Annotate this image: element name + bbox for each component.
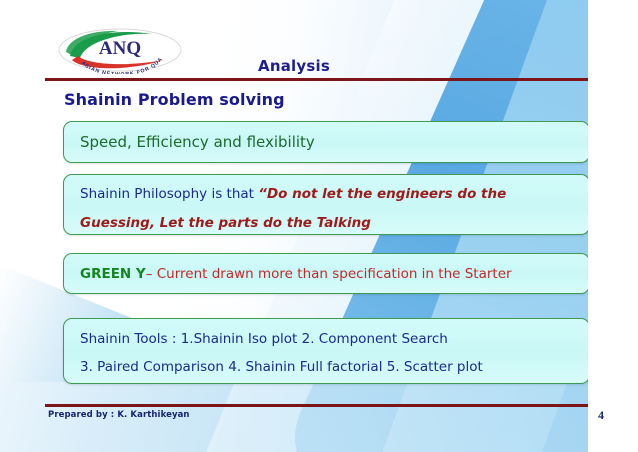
philosophy-line-2: Guessing, Let the parts do the Talking bbox=[80, 208, 575, 235]
philosophy-lead: Shainin Philosophy is that bbox=[80, 186, 258, 202]
content-box-tools: Shainin Tools : 1.Shainin Iso plot 2. Co… bbox=[63, 318, 588, 384]
green-y-description: – Current drawn more than specification … bbox=[146, 266, 512, 282]
page-number: 4 bbox=[598, 408, 604, 423]
philosophy-quote-open: “ bbox=[258, 186, 267, 202]
header-divider bbox=[45, 78, 588, 81]
section-heading: Shainin Problem solving bbox=[64, 90, 285, 109]
content-box-speed: Speed, Efficiency and flexibility bbox=[63, 121, 588, 163]
philosophy-quote-line-2: Guessing, Let the parts do the Talking bbox=[80, 215, 371, 231]
footer-author: Prepared by : K. Karthikeyan bbox=[48, 410, 190, 420]
philosophy-line-1: Shainin Philosophy is that “Do not let t… bbox=[80, 179, 575, 208]
content-box-philosophy: Shainin Philosophy is that “Do not let t… bbox=[63, 174, 588, 235]
speed-text: Speed, Efficiency and flexibility bbox=[80, 133, 315, 151]
slide-canvas: ANQ ASIAN NETWORK FOR QUALITY Analysis S… bbox=[0, 0, 588, 452]
tools-line-2: 3. Paired Comparison 4. Shainin Full fac… bbox=[80, 353, 575, 381]
page-title: Analysis bbox=[0, 57, 588, 75]
anq-logo-wordmark: ANQ bbox=[99, 38, 141, 59]
philosophy-quote-line-1: Do not let the engineers do the bbox=[267, 186, 506, 202]
footer-divider bbox=[45, 404, 588, 407]
green-y-label: GREEN Y bbox=[80, 266, 146, 282]
content-box-green-y: GREEN Y – Current drawn more than specif… bbox=[63, 253, 588, 294]
tools-line-1: Shainin Tools : 1.Shainin Iso plot 2. Co… bbox=[80, 325, 575, 353]
